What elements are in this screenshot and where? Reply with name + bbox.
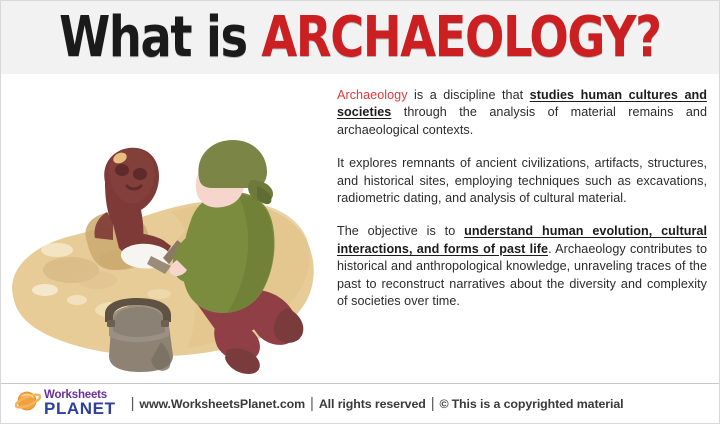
logo-bottom-word: PLANET — [44, 400, 116, 417]
page-body: Archaeology is a discipline that studies… — [1, 74, 719, 383]
page-footer: Worksheets PLANET | www.WorksheetsPlanet… — [1, 383, 719, 423]
bag-buckle-left — [107, 320, 115, 327]
excavation-scene-icon — [1, 74, 329, 383]
footer-separator: | — [431, 396, 435, 411]
footer-copyright-text: This is a copyrighted material — [452, 397, 624, 411]
illustration — [1, 74, 329, 383]
p3-lead-in: The objective is to — [337, 224, 464, 238]
keyword-archaeology: Archaeology — [337, 88, 408, 102]
page-title: What is ARCHAEOLOGY? — [59, 10, 660, 66]
statue-eye-left — [115, 164, 129, 176]
paragraph-2: It explores remnants of ancient civiliza… — [337, 155, 707, 207]
page-title-prefix: What is — [59, 5, 261, 70]
copyright-icon: © — [440, 397, 449, 411]
footer-text: | www.WorksheetsPlanet.com | All rights … — [126, 396, 624, 411]
satchel-bag — [105, 298, 173, 372]
bag-flap-inner — [113, 307, 165, 337]
paragraph-1: Archaeology is a discipline that studies… — [337, 87, 707, 139]
paragraph-3: The objective is to understand human evo… — [337, 223, 707, 310]
article-text: Archaeology is a discipline that studies… — [329, 74, 719, 383]
sand-highlight — [67, 295, 87, 305]
footer-separator: | — [131, 396, 135, 411]
bag-buckle-right — [161, 320, 169, 327]
sand-patch — [77, 271, 117, 289]
p2-text: It explores remnants of ancient civiliza… — [337, 156, 707, 205]
footer-website-link[interactable]: www.WorksheetsPlanet.com — [139, 397, 305, 411]
page-header: What is ARCHAEOLOGY? — [1, 1, 719, 74]
worksheets-planet-logo[interactable]: Worksheets PLANET — [15, 389, 116, 418]
footer-rights: All rights reserved — [319, 397, 426, 411]
sand-highlight — [32, 284, 58, 296]
sand-highlight — [41, 243, 73, 257]
planet-icon — [15, 389, 41, 418]
sand-highlight — [147, 289, 171, 299]
statue-eye-right — [133, 168, 147, 180]
p1-lead-in: is a discipline that — [408, 88, 530, 102]
footer-separator: | — [310, 396, 314, 411]
p1-tail: through the analysis of material remains… — [337, 105, 707, 136]
page-title-question-mark: ? — [635, 5, 661, 70]
page-title-keyword: ARCHAEOLOGY — [262, 5, 636, 70]
logo-wordmark: Worksheets PLANET — [44, 390, 116, 418]
worksheet-page: What is ARCHAEOLOGY? — [0, 0, 720, 424]
